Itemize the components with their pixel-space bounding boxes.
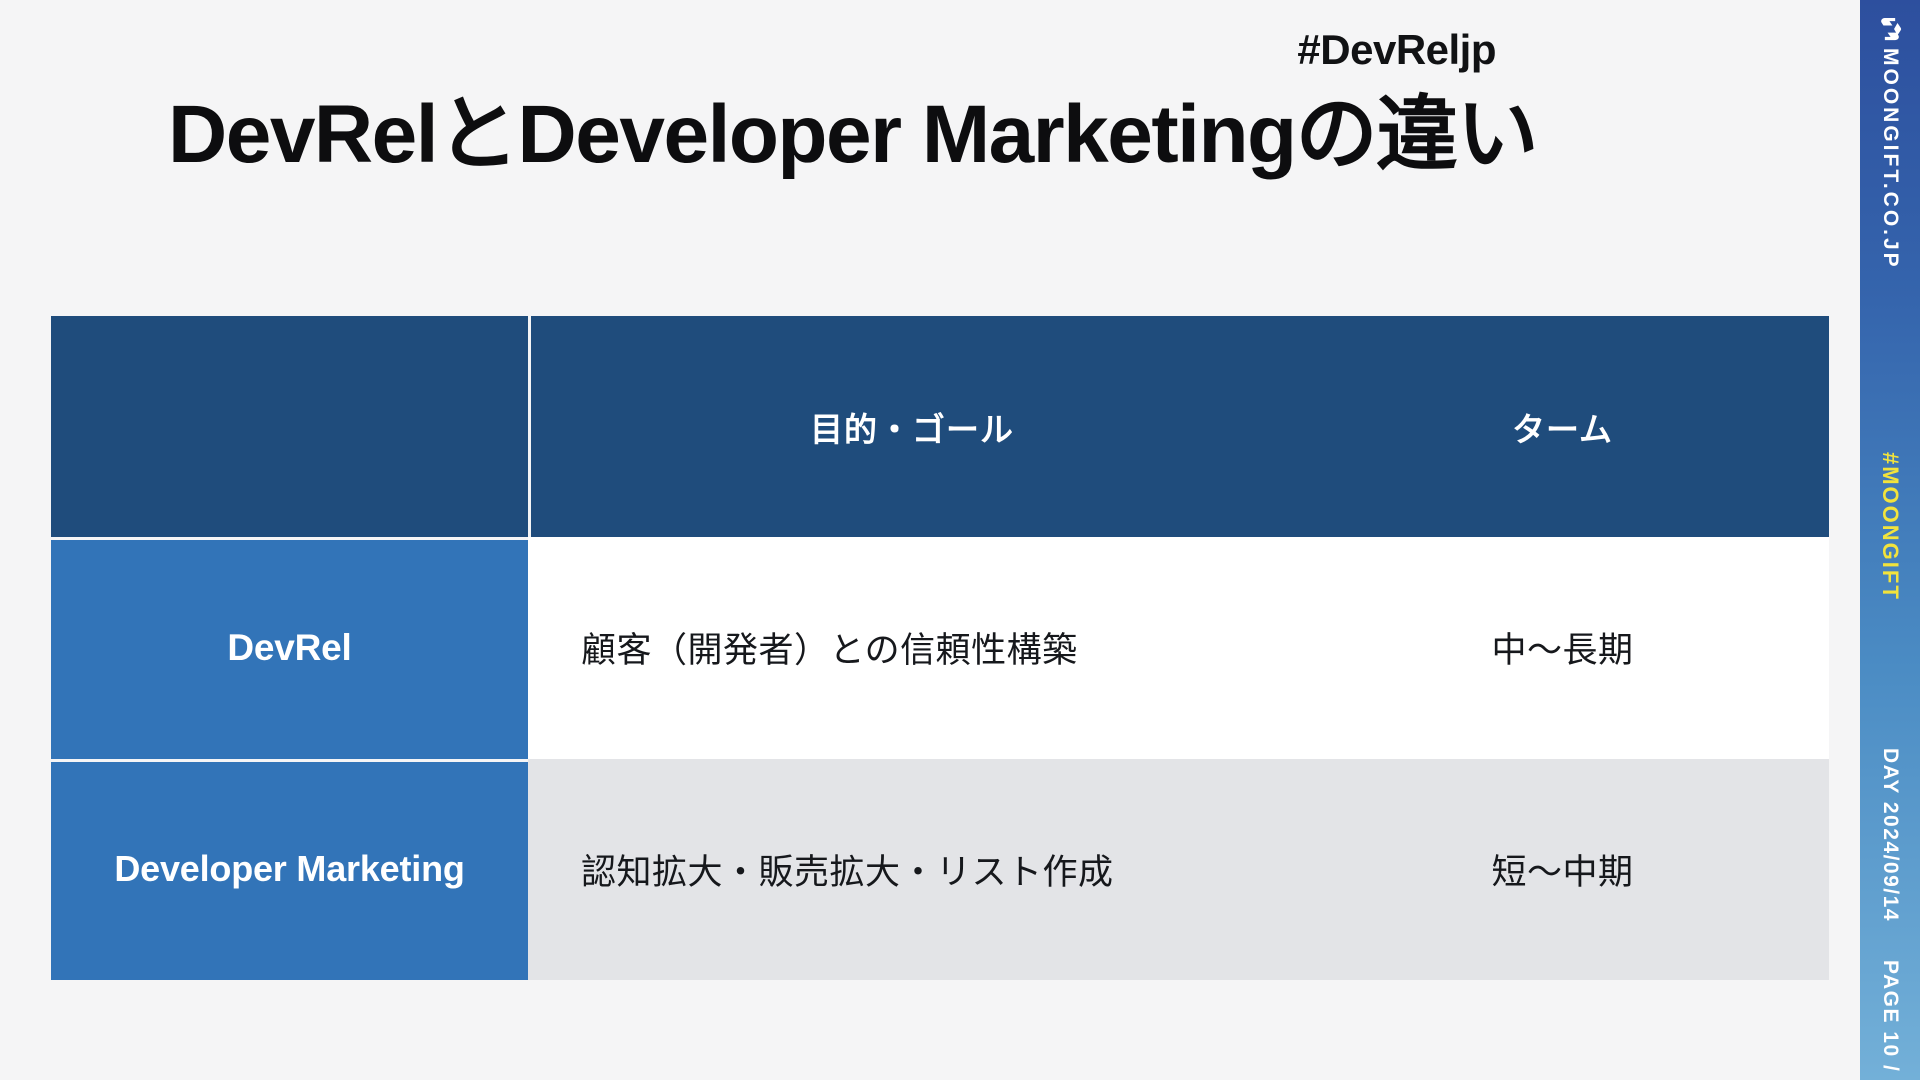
comparison-table: 目的・ゴール ターム DevRel 顧客（開発者）との信頼性構築 中〜長期 De…	[51, 316, 1829, 980]
sidebar-brand: MOONGIFT.CO.JP	[1878, 48, 1902, 270]
table-header-row: 目的・ゴール ターム	[51, 316, 1829, 537]
sidebar-page-number: PAGE 10 / 33	[1878, 960, 1902, 1080]
row-label-devrel: DevRel	[51, 537, 528, 759]
cell-devrel-term: 中〜長期	[1296, 537, 1829, 759]
slide-root: #DevReljp DevRelとDeveloper Marketingの違い …	[0, 0, 1920, 1080]
table-row: Developer Marketing 認知拡大・販売拡大・リスト作成 短〜中期	[51, 759, 1829, 981]
table-header-corner	[51, 316, 528, 537]
sidebar-hashtag: #MOONGIFT	[1877, 452, 1903, 601]
moongift-logo-icon	[1875, 14, 1905, 44]
page-title: DevRelとDeveloper Marketingの違い	[168, 92, 1537, 178]
table-row: DevRel 顧客（開発者）との信頼性構築 中〜長期	[51, 537, 1829, 759]
table-header-term: ターム	[1296, 316, 1829, 537]
sidebar-day: DAY 2024/09/14	[1878, 748, 1902, 922]
cell-devmarketing-term: 短〜中期	[1296, 759, 1829, 981]
right-sidebar: MOONGIFT.CO.JP #MOONGIFT DAY 2024/09/14 …	[1860, 0, 1920, 1080]
cell-devrel-goal: 顧客（開発者）との信頼性構築	[528, 537, 1296, 759]
row-label-developer-marketing: Developer Marketing	[51, 759, 528, 981]
event-hashtag: #DevReljp	[1297, 26, 1496, 74]
cell-devmarketing-goal: 認知拡大・販売拡大・リスト作成	[528, 759, 1296, 981]
table-header-goal: 目的・ゴール	[528, 316, 1296, 537]
